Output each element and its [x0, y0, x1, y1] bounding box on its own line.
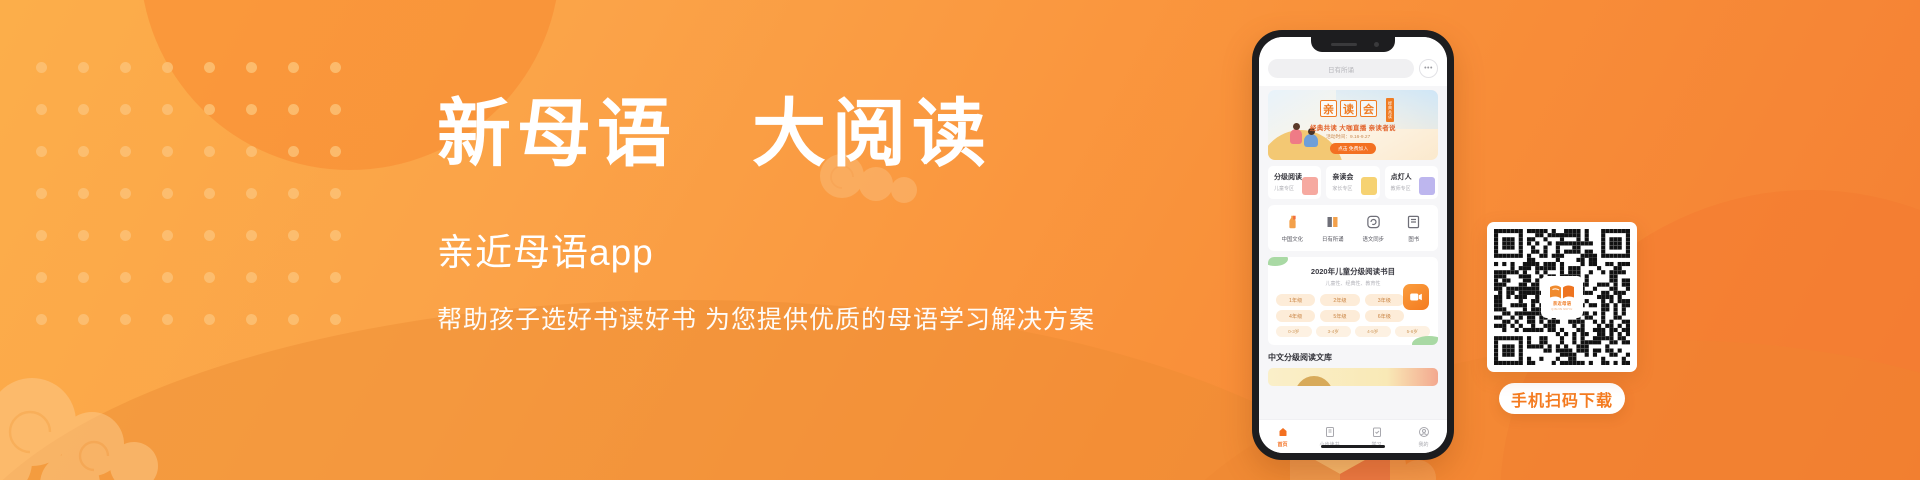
quick-link-label: 图书	[1408, 235, 1419, 243]
book-open-icon	[1325, 214, 1340, 230]
tab-home[interactable]: 首页	[1264, 426, 1302, 448]
video-play-button[interactable]	[1403, 284, 1429, 310]
qr-code: 亲近母语 QINJIN MUYU	[1487, 222, 1637, 372]
decor-dot	[120, 62, 131, 73]
age-chip[interactable]: 3-4岁	[1316, 326, 1352, 337]
category-card-parent-club[interactable]: 亲读会 家长专区	[1326, 166, 1379, 199]
app-body: 亲 读 会 经典共读 经典共读 大咖直播 亲读者说 活动时间：9.16-9.27…	[1259, 90, 1447, 386]
age-chip[interactable]: 4-5岁	[1355, 326, 1391, 337]
decor-dot	[78, 146, 89, 157]
decor-dot	[120, 188, 131, 199]
promo-title-char-3: 会	[1360, 100, 1377, 117]
book-shape-icon	[1302, 177, 1318, 195]
decor-dot	[120, 104, 131, 115]
phone-mockup: 日有所诵 ••• 亲 读 会 经典共读	[1252, 30, 1454, 460]
banner-copy: 新母语 大阅读 亲近母语app 帮助孩子选好书读好书 为您提供优质的母语学习解决…	[437, 96, 1197, 336]
page-title: 新母语 大阅读	[437, 96, 1197, 176]
promo-join-button[interactable]: 点击 免费加入	[1330, 143, 1376, 154]
decor-dot	[204, 272, 215, 283]
decor-dot	[36, 104, 47, 115]
category-cards: 分级阅读 儿童专区 亲读会 家长专区 点灯人 教师专区	[1268, 166, 1438, 199]
search-input[interactable]: 日有所诵	[1268, 59, 1414, 78]
promo-card[interactable]: 亲 读 会 经典共读 经典共读 大咖直播 亲读者说 活动时间：9.16-9.27…	[1268, 90, 1438, 160]
decor-dot	[36, 188, 47, 199]
decor-dot	[204, 146, 215, 157]
decor-dot	[162, 62, 173, 73]
video-play-icon	[1409, 290, 1423, 304]
qr-block: 亲近母语 QINJIN MUYU 手机扫码下载	[1487, 222, 1637, 414]
decor-dot	[246, 272, 257, 283]
decor-dot	[246, 188, 257, 199]
quick-link-textbook-sync[interactable]: 语文同步	[1356, 214, 1390, 243]
decor-dot	[120, 272, 131, 283]
tab-label: 我的	[1418, 441, 1428, 448]
library-section: 中文分级阅读文库	[1268, 352, 1438, 386]
quick-icon-row: 中国文化 日有所诵 语文同步	[1268, 205, 1438, 251]
phone-screen: 日有所诵 ••• 亲 读 会 经典共读	[1259, 37, 1447, 453]
decor-dot	[120, 146, 131, 157]
library-arc-decor	[1294, 376, 1334, 386]
phone-notch	[1311, 37, 1395, 52]
quick-link-label: 语文同步	[1362, 235, 1384, 243]
camera-icon	[1374, 42, 1379, 47]
decor-dot	[330, 146, 341, 157]
decor-leaf-top	[1268, 257, 1288, 266]
book-icon	[1406, 214, 1421, 230]
promo-banner: 新母语 大阅读 亲近母语app 帮助孩子选好书读好书 为您提供优质的母语学习解决…	[0, 0, 1920, 480]
promo-date: 活动时间：9.16-9.27	[1326, 133, 1370, 140]
promo-title-char-2: 读	[1340, 100, 1357, 117]
decor-dot	[78, 62, 89, 73]
quick-link-chinese-culture[interactable]: 中国文化	[1275, 214, 1309, 243]
promo-flag: 经典共读	[1386, 98, 1394, 122]
grade-chip-group: 1年级2年级3年级4年级5年级6年级	[1276, 294, 1404, 322]
grade-chip[interactable]: 6年级	[1365, 310, 1404, 322]
decor-cloud-bottom-left	[0, 366, 204, 480]
decor-dot	[288, 188, 299, 199]
sync-icon	[1366, 214, 1381, 230]
qr-logo-text: 亲近母语	[1553, 301, 1571, 307]
decor-dot	[330, 272, 341, 283]
speaker-icon	[1331, 43, 1357, 46]
promo-title: 亲 读 会	[1320, 100, 1377, 117]
app-name: 亲近母语app	[437, 222, 1197, 276]
book-logo-icon	[1549, 284, 1575, 300]
quick-link-daily-recite[interactable]: 日有所诵	[1316, 214, 1350, 243]
book-shape-icon	[1361, 177, 1377, 195]
decor-dot	[36, 272, 47, 283]
clipboard-icon	[1371, 426, 1383, 438]
decor-dot	[330, 188, 341, 199]
promo-child-head-1	[1293, 123, 1300, 130]
headline-part-2: 大阅读	[752, 94, 992, 176]
download-button[interactable]: 手机扫码下载	[1499, 383, 1625, 414]
qr-logo: 亲近母语 QINJIN MUYU	[1543, 278, 1581, 316]
decor-dot	[162, 230, 173, 241]
decor-dot	[204, 188, 215, 199]
decor-dot	[78, 230, 89, 241]
category-card-graded-reading[interactable]: 分级阅读 儿童专区	[1268, 166, 1321, 199]
decor-dot	[288, 272, 299, 283]
decor-dot	[204, 62, 215, 73]
decor-dot	[246, 104, 257, 115]
grade-chip[interactable]: 3年级	[1365, 294, 1404, 306]
decor-leaf-bottom	[1412, 336, 1438, 345]
decor-dot	[246, 62, 257, 73]
decor-dot	[288, 314, 299, 325]
decor-dot	[330, 62, 341, 73]
user-icon	[1418, 426, 1430, 438]
booklist-card: 2020年儿童分级阅读书目 儿童性、经典性、教育性 1年级2年级3年级4年级5年…	[1268, 257, 1438, 345]
promo-child-1	[1290, 129, 1302, 144]
decor-dot	[162, 314, 173, 325]
decor-dot	[162, 188, 173, 199]
tab-profile[interactable]: 我的	[1405, 426, 1443, 448]
tab-reading[interactable]: 小步读书	[1311, 426, 1349, 448]
decor-dot	[246, 146, 257, 157]
decor-dot	[36, 62, 47, 73]
decor-dot	[330, 314, 341, 325]
reading-icon	[1324, 426, 1336, 438]
home-icon	[1277, 426, 1289, 438]
quick-link-label: 中国文化	[1281, 235, 1303, 243]
decor-dot	[204, 314, 215, 325]
library-title: 中文分级阅读文库	[1268, 352, 1438, 363]
lamp-shape-icon	[1419, 177, 1435, 195]
promo-child-2	[1304, 134, 1318, 147]
more-icon[interactable]: •••	[1419, 59, 1438, 78]
decor-dot	[246, 314, 257, 325]
decor-dot-grid	[36, 62, 372, 356]
decor-dot	[330, 104, 341, 115]
decor-dot	[78, 104, 89, 115]
headline-part-1: 新母语	[437, 94, 677, 176]
age-chip-group: 0-3岁3-4岁4-5岁5-6岁	[1276, 326, 1430, 337]
decor-dot	[162, 272, 173, 283]
search-bar[interactable]: 日有所诵 •••	[1268, 59, 1438, 78]
decor-dot	[330, 230, 341, 241]
booklist-title: 2020年儿童分级阅读书目	[1276, 266, 1430, 277]
grade-chip[interactable]: 5年级	[1320, 310, 1359, 322]
decor-dot	[78, 272, 89, 283]
category-card-teacher[interactable]: 点灯人 教师专区	[1385, 166, 1438, 199]
decor-dot	[162, 146, 173, 157]
tab-label: 首页	[1277, 441, 1287, 448]
grade-chip[interactable]: 4年级	[1276, 310, 1315, 322]
decor-dot	[288, 146, 299, 157]
decor-dot	[246, 230, 257, 241]
decor-dot	[288, 62, 299, 73]
qr-logo-subtext: QINJIN MUYU	[1551, 308, 1572, 311]
decor-dot	[78, 188, 89, 199]
library-banner[interactable]	[1268, 368, 1438, 386]
promo-subtitle: 经典共读 大咖直播 亲读者说	[1310, 122, 1396, 132]
tagline: 帮助孩子选好书读好书 为您提供优质的母语学习解决方案	[437, 300, 1197, 336]
grade-chip[interactable]: 2年级	[1320, 294, 1359, 306]
decor-dot	[36, 314, 47, 325]
decor-dot	[204, 104, 215, 115]
decor-dot	[36, 230, 47, 241]
quick-link-label: 日有所诵	[1322, 235, 1344, 243]
decor-dot	[204, 230, 215, 241]
home-indicator	[1321, 445, 1385, 448]
tab-study[interactable]: 学习	[1358, 426, 1396, 448]
grade-chip[interactable]: 1年级	[1276, 294, 1315, 306]
decor-dot	[162, 104, 173, 115]
decor-dot	[288, 230, 299, 241]
vase-icon	[1285, 214, 1300, 230]
decor-dot	[120, 314, 131, 325]
decor-dot	[78, 314, 89, 325]
age-chip[interactable]: 0-3岁	[1276, 326, 1312, 337]
decor-dot	[36, 146, 47, 157]
decor-dot	[288, 104, 299, 115]
quick-link-books[interactable]: 图书	[1397, 214, 1431, 243]
decor-dot	[120, 230, 131, 241]
promo-title-char-1: 亲	[1320, 100, 1337, 117]
